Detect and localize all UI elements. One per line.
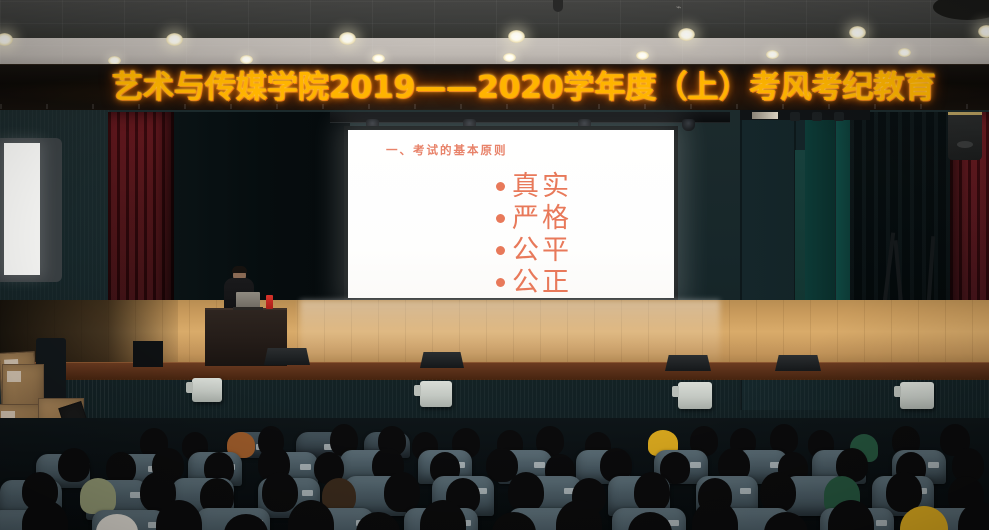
front-speaker-icon (678, 382, 712, 409)
stage-light-icon (682, 119, 695, 131)
downlight-icon (978, 25, 989, 38)
audience-head (262, 472, 298, 512)
seat-number-tag (690, 462, 701, 468)
slide-bullet-label: 公平 (512, 237, 572, 264)
audience-head (760, 472, 796, 512)
slide-bullet-item: 真实 (496, 170, 572, 202)
stage-monitor-speaker (775, 355, 821, 371)
audience-area (0, 418, 989, 530)
downlight-icon (166, 33, 183, 46)
presenter-hair (232, 266, 247, 273)
bullet-dot-icon (496, 182, 505, 191)
led-banner: 艺术与传媒学院2019——2020学年度（上）考风考纪教育 (0, 64, 989, 112)
downlight-icon (508, 30, 525, 43)
stage-monitor-speaker (264, 348, 310, 365)
downlight-icon (636, 51, 649, 60)
seat-number-tag (302, 490, 313, 496)
beverage-can (266, 295, 273, 309)
bullet-dot-icon (496, 214, 505, 223)
stage-monitor-speaker (665, 355, 711, 371)
seat-number-tag (876, 520, 887, 526)
audience-head (58, 448, 90, 482)
front-speaker-icon (420, 381, 452, 407)
stage-light-icon (812, 112, 822, 121)
slide-bullet-item: 严格 (496, 202, 572, 234)
lighting-truss (330, 112, 730, 123)
bullet-dot-icon (496, 278, 505, 287)
side-display-screen (4, 143, 40, 275)
front-speaker-icon (900, 382, 934, 409)
downlight-icon (766, 50, 779, 59)
slide-bullet-list: 真实 严格 公平 公正 (496, 170, 572, 298)
slide-bullet-item: 公正 (496, 266, 572, 298)
box-label (7, 371, 21, 382)
hanging-speaker-icon (948, 112, 982, 160)
audience-head (80, 478, 116, 514)
stage-monitor-speaker (420, 352, 464, 368)
wall-spotlight-icon (752, 112, 778, 119)
ceiling-dark-band (0, 0, 989, 40)
slide-title: 一、考试的基本原则 (386, 142, 508, 158)
seat-number-tag (928, 462, 939, 468)
laptop-icon (236, 292, 260, 308)
ceiling-marking: ⌁ (676, 2, 712, 14)
downlight-icon (898, 48, 911, 57)
slide-bullet-label: 严格 (512, 205, 572, 232)
seat-number-tag (740, 488, 751, 494)
audience-head (634, 472, 670, 512)
slide-bullet-item: 公平 (496, 234, 572, 266)
bullet-dot-icon (496, 246, 505, 255)
downlight-icon (339, 32, 356, 45)
auditorium-photo: ⌁ 艺术与传媒学院2019——2020学年度（上）考风考纪教育 (0, 0, 989, 530)
seat-number-tag (534, 462, 545, 468)
downlight-icon (372, 54, 385, 63)
stage-light-icon (790, 112, 800, 121)
projection-screen: 一、考试的基本原则 真实 严格 公平 公正 (348, 130, 674, 298)
downlight-icon (240, 55, 253, 64)
downlight-icon (503, 53, 516, 62)
seat-number-tag (300, 464, 311, 470)
downlight-icon (849, 26, 866, 39)
slide-content: 一、考试的基本原则 真实 严格 公平 公正 (348, 130, 674, 298)
downlight-icon (678, 28, 695, 41)
ceiling-speaker-icon (553, 0, 563, 12)
audience-head (508, 472, 544, 512)
stage-floor-reflection (300, 300, 720, 366)
audience-head (384, 472, 420, 512)
slide-bullet-label: 真实 (512, 173, 572, 200)
laptop-base (233, 307, 263, 310)
banner-title-text: 艺术与传媒学院2019——2020学年度（上）考风考纪教育 (112, 73, 936, 104)
slide-bullet-label: 公正 (512, 269, 572, 296)
stage-light-icon (834, 112, 844, 121)
front-speaker-icon (192, 378, 222, 402)
stage-equipment-box (133, 341, 163, 367)
banner-led-dots (0, 104, 989, 109)
